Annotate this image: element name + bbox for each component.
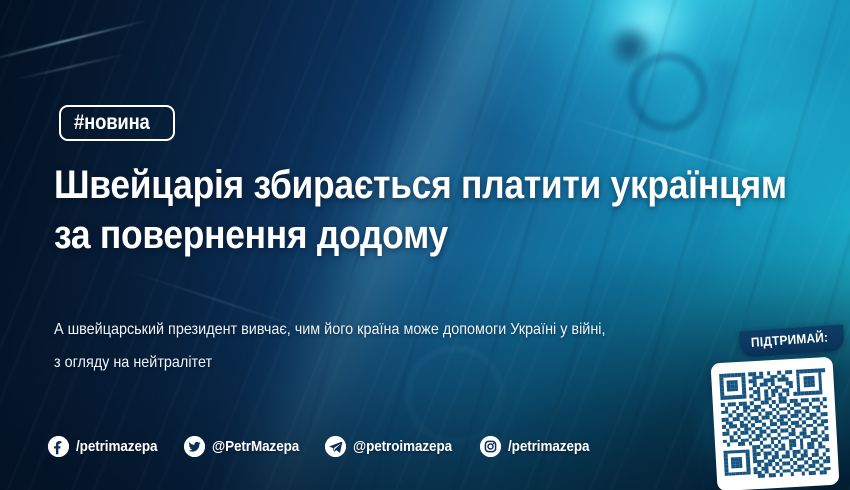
qr-code-card[interactable] <box>711 357 840 490</box>
social-link-instagram[interactable]: /petrimazepa <box>480 436 599 457</box>
support-block[interactable]: ПІДТРИМАЙ: <box>700 328 850 490</box>
subtitle: А швейцарський президент вивчає, чим йог… <box>54 313 734 379</box>
category-badge[interactable]: #новина <box>59 105 175 141</box>
social-handle-instagram: /petrimazepa <box>508 438 589 455</box>
category-badge-label: #новина <box>74 111 150 135</box>
social-link-telegram[interactable]: @petroimazepa <box>325 436 463 457</box>
support-label: ПІДТРИМАЙ: <box>750 329 828 349</box>
headline-line-1: Швейцарія збирається платити українцям <box>54 160 674 210</box>
social-handle-twitter: @PetrMazepa <box>212 438 299 455</box>
facebook-icon <box>48 436 69 457</box>
headline: Швейцарія збирається платити українцям з… <box>54 160 754 260</box>
news-card: #новина Швейцарія збирається платити укр… <box>0 0 850 490</box>
subtitle-line-2: з огляду на нейтралітет <box>54 346 666 379</box>
social-link-facebook[interactable]: /petrimazepa <box>48 436 167 457</box>
subtitle-line-1: А швейцарський президент вивчає, чим йог… <box>54 313 666 346</box>
social-links: /petrimazepa @PetrMazepa <box>48 436 599 457</box>
social-handle-facebook: /petrimazepa <box>76 438 157 455</box>
telegram-icon <box>325 436 346 457</box>
social-handle-telegram: @petroimazepa <box>353 438 452 455</box>
twitter-icon <box>184 436 205 457</box>
social-link-twitter[interactable]: @PetrMazepa <box>184 436 309 457</box>
headline-line-2: за повернення додому <box>54 210 674 260</box>
qr-code-icon <box>719 368 831 480</box>
instagram-icon <box>480 436 501 457</box>
